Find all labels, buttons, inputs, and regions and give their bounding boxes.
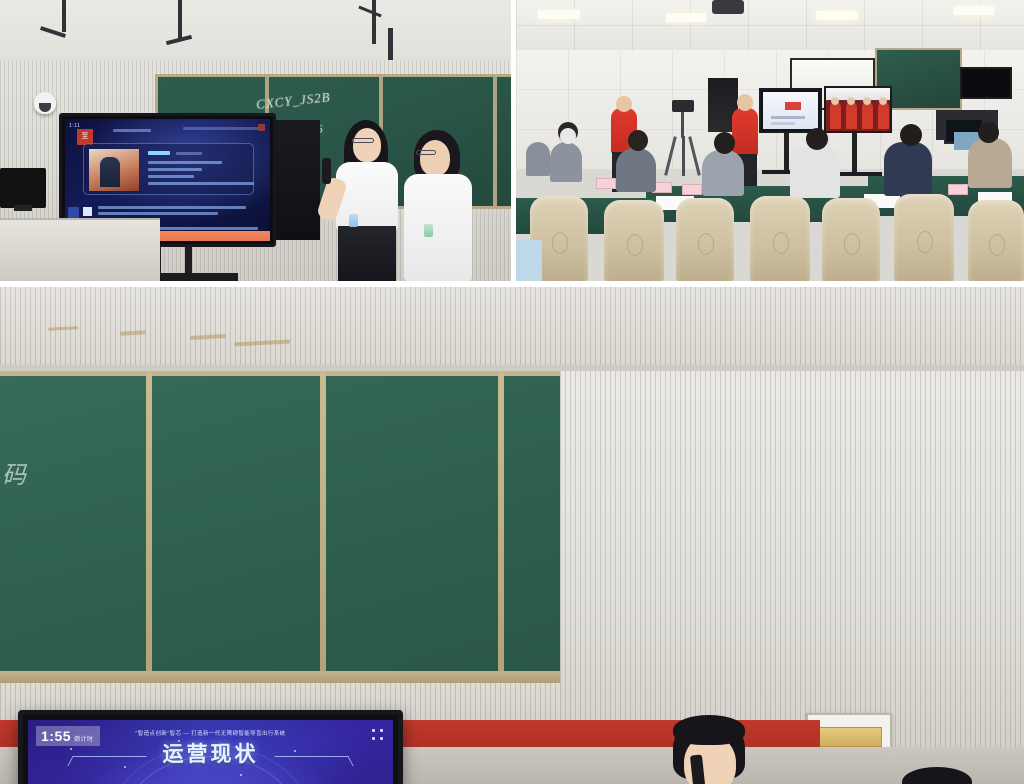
feed-person bbox=[830, 102, 841, 129]
display-stand-pole bbox=[852, 133, 857, 175]
attendee bbox=[526, 142, 550, 176]
slide-text-line bbox=[771, 116, 805, 119]
title-decoration-right bbox=[274, 756, 353, 766]
rolling-display-slide bbox=[759, 88, 822, 133]
attendee bbox=[790, 146, 840, 198]
feed-person bbox=[862, 102, 873, 129]
blouse bbox=[336, 162, 398, 230]
upper-wall bbox=[0, 287, 1024, 365]
feed-person-head bbox=[847, 97, 855, 105]
name-plate bbox=[682, 184, 702, 195]
attendee-hair bbox=[628, 130, 648, 151]
rolling-display-video-feed bbox=[824, 86, 892, 133]
chalkboard-divider bbox=[146, 371, 152, 671]
fullscreen-icon[interactable] bbox=[372, 729, 383, 740]
attendee-hair bbox=[714, 132, 735, 154]
ceiling-rail-icon bbox=[62, 0, 66, 32]
note-item bbox=[83, 205, 254, 219]
microphone-icon bbox=[322, 158, 331, 184]
fringe bbox=[673, 715, 745, 745]
face bbox=[420, 140, 450, 176]
chair bbox=[894, 194, 954, 281]
feed-person-head bbox=[831, 97, 839, 105]
bullet-line bbox=[148, 161, 222, 164]
ceiling-light bbox=[954, 6, 994, 15]
presenter-head bbox=[616, 96, 632, 112]
wall-mounted-tv bbox=[960, 67, 1012, 99]
id-badge bbox=[349, 214, 358, 227]
id-badge bbox=[424, 224, 433, 237]
monitor-stand bbox=[14, 205, 32, 211]
display-screen: 1:11 至 bbox=[65, 119, 270, 231]
attendee bbox=[884, 142, 932, 196]
ceiling-rail-icon bbox=[372, 0, 376, 44]
bullet-line bbox=[148, 168, 202, 171]
face bbox=[353, 128, 381, 162]
attendee-hair bbox=[900, 124, 922, 146]
photo-collage: CXCY_JS2B JS 216 1:11 至 bbox=[0, 0, 1024, 784]
title-decoration-left bbox=[67, 756, 146, 766]
skirt bbox=[338, 226, 396, 281]
chair bbox=[750, 196, 810, 281]
feed-person bbox=[878, 102, 889, 129]
plaque bbox=[816, 727, 882, 747]
feed-person-head bbox=[863, 97, 871, 105]
attendee bbox=[550, 142, 582, 182]
tripod-camera bbox=[668, 100, 698, 176]
chalkboard-divider bbox=[498, 371, 504, 671]
photo-top-right bbox=[516, 0, 1024, 281]
chair bbox=[676, 198, 734, 281]
photo-top-left: CXCY_JS2B JS 216 1:11 至 bbox=[0, 0, 511, 281]
ceiling-rail-icon bbox=[388, 28, 393, 60]
chalk-mark: 码 bbox=[2, 455, 26, 490]
slide-text-line bbox=[771, 122, 795, 125]
right-wall bbox=[560, 371, 1024, 763]
glasses-icon bbox=[352, 138, 374, 143]
ceiling bbox=[0, 0, 511, 60]
feed-person bbox=[846, 102, 857, 129]
slide-heading-line bbox=[113, 129, 151, 132]
camera-body-icon bbox=[672, 100, 694, 112]
speaker-name-line bbox=[148, 151, 170, 155]
ceiling-light bbox=[538, 10, 580, 19]
close-icon[interactable] bbox=[258, 124, 265, 131]
attendee bbox=[702, 150, 744, 196]
speaker-photo bbox=[89, 149, 139, 191]
water-bottle-box bbox=[516, 240, 542, 281]
bullet-line bbox=[148, 182, 254, 185]
presenter-head bbox=[737, 94, 753, 111]
slide-accent bbox=[785, 102, 801, 110]
slide-subtitle: "智造点创新"智芯 — 打造新一代无障碍智能导盲出行系统 bbox=[28, 729, 393, 737]
speaker-card bbox=[83, 143, 254, 195]
background-monitor bbox=[270, 120, 320, 240]
chair bbox=[822, 198, 880, 281]
attendee bbox=[616, 148, 656, 192]
shirt bbox=[404, 174, 472, 281]
attendee-hair bbox=[806, 128, 828, 150]
ceiling bbox=[516, 0, 1024, 52]
dome-camera-icon bbox=[34, 92, 56, 114]
photo-bottom-main: 码 bbox=[0, 287, 1024, 784]
attendee-mask-icon bbox=[560, 128, 576, 144]
ceiling-rail-icon bbox=[178, 0, 182, 40]
attendee bbox=[968, 138, 1012, 188]
name-plate bbox=[596, 178, 616, 189]
chair bbox=[604, 200, 664, 281]
name-plate bbox=[948, 184, 968, 195]
equipment-cabinet bbox=[0, 218, 160, 281]
display-screen: 1:55 倒计时 "智造点创新"智芯 — 打造新一代无障碍智能导盲出行系统 运营… bbox=[28, 720, 393, 784]
chair bbox=[968, 200, 1024, 281]
presentation-display: 1:55 倒计时 "智造点创新"智芯 — 打造新一代无障碍智能导盲出行系统 运营… bbox=[18, 710, 403, 784]
glasses-icon bbox=[416, 150, 436, 155]
slide-note-line bbox=[183, 127, 259, 130]
feed-person-head bbox=[879, 97, 887, 105]
tripod-column bbox=[681, 112, 684, 138]
chalkboard-divider bbox=[320, 371, 326, 671]
presenter-red-2 bbox=[732, 108, 758, 156]
speaker-role-line bbox=[176, 152, 202, 155]
ceiling-light bbox=[816, 11, 858, 20]
tripod-leg bbox=[682, 136, 685, 176]
bullet-square-icon bbox=[83, 207, 92, 216]
projector-icon bbox=[712, 0, 744, 14]
display-stand-pole bbox=[784, 133, 789, 173]
desktop-monitor bbox=[0, 168, 46, 208]
bullet-line bbox=[148, 175, 194, 178]
ceiling-light bbox=[666, 13, 706, 22]
attendee-hair bbox=[978, 122, 999, 143]
